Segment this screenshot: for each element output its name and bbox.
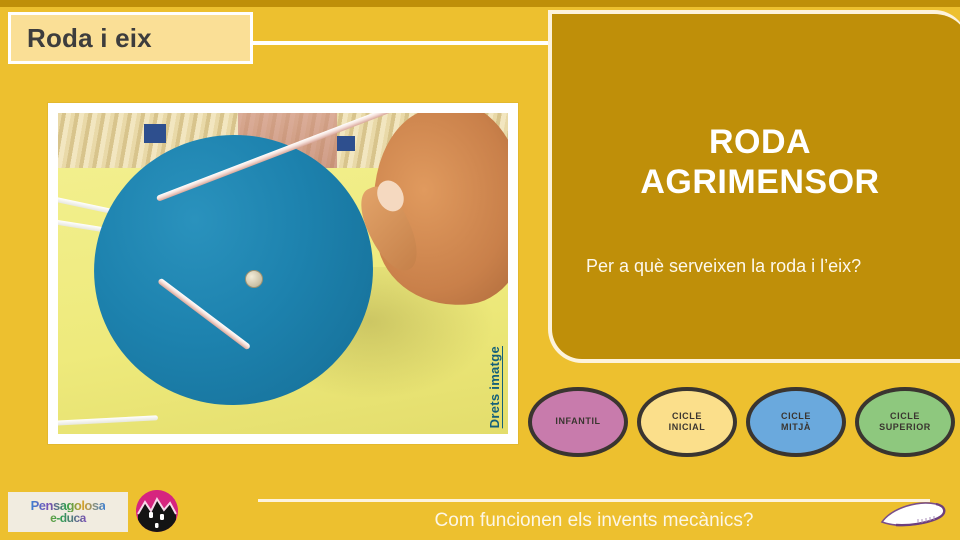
concept-title-line-2: AGRIMENSOR xyxy=(586,162,934,202)
photo-image: Drets imatge xyxy=(58,113,508,434)
footer-divider xyxy=(258,499,930,502)
pensagolosa-logo-line-2: e-duca xyxy=(31,512,106,525)
badge-cicle-mitja-label: CICLEMITJÀ xyxy=(781,411,811,434)
concept-question: Per a què serveixen la roda i l’eix? xyxy=(586,254,934,278)
pensagolosa-logo[interactable]: Pensagolosa e-duca xyxy=(8,492,128,532)
title-connector-line xyxy=(253,41,553,45)
badge-cicle-superior-label: CICLESUPERIOR xyxy=(879,411,931,434)
photo-frame: Drets imatge xyxy=(48,103,518,444)
concept-title-line-1: RODA xyxy=(586,122,934,162)
badge-cicle-mitja[interactable]: CICLEMITJÀ xyxy=(746,387,846,457)
badge-infantil[interactable]: INFANTIL xyxy=(528,387,628,457)
photo-detail-chip-2 xyxy=(337,136,355,152)
footer-bar: Pensagolosa e-duca Com funcionen els inv… xyxy=(0,484,960,540)
badge-cicle-superior[interactable]: CICLESUPERIOR xyxy=(855,387,955,457)
photo-axle-hub xyxy=(245,270,263,288)
slide-root: Roda i eix RODA AGRIMENSOR Per a què ser… xyxy=(0,0,960,540)
badge-cicle-inicial[interactable]: CICLEINICIAL xyxy=(637,387,737,457)
concept-panel: RODA AGRIMENSOR Per a què serveixen la r… xyxy=(548,10,960,363)
image-credit-link[interactable]: Drets imatge xyxy=(487,346,502,428)
cycle-badge-group: INFANTIL CICLEINICIAL CICLEMITJÀ CICLESU… xyxy=(528,386,960,458)
top-accent-strip xyxy=(0,0,960,7)
badge-cicle-inicial-label: CICLEINICIAL xyxy=(669,411,706,434)
cat-mountain-icon[interactable] xyxy=(136,490,178,532)
pensagolosa-logo-line-1: Pensagolosa xyxy=(31,499,106,512)
badge-infantil-label: INFANTIL xyxy=(555,416,600,427)
footer-caption: Com funcionen els invents mecànics? xyxy=(258,510,930,532)
slide-title-chip: Roda i eix xyxy=(8,12,253,64)
concept-title: RODA AGRIMENSOR xyxy=(586,122,934,202)
page-title: Roda i eix xyxy=(11,23,152,54)
photo-detail-chip-1 xyxy=(144,124,167,142)
swoosh-icon[interactable] xyxy=(878,498,950,532)
